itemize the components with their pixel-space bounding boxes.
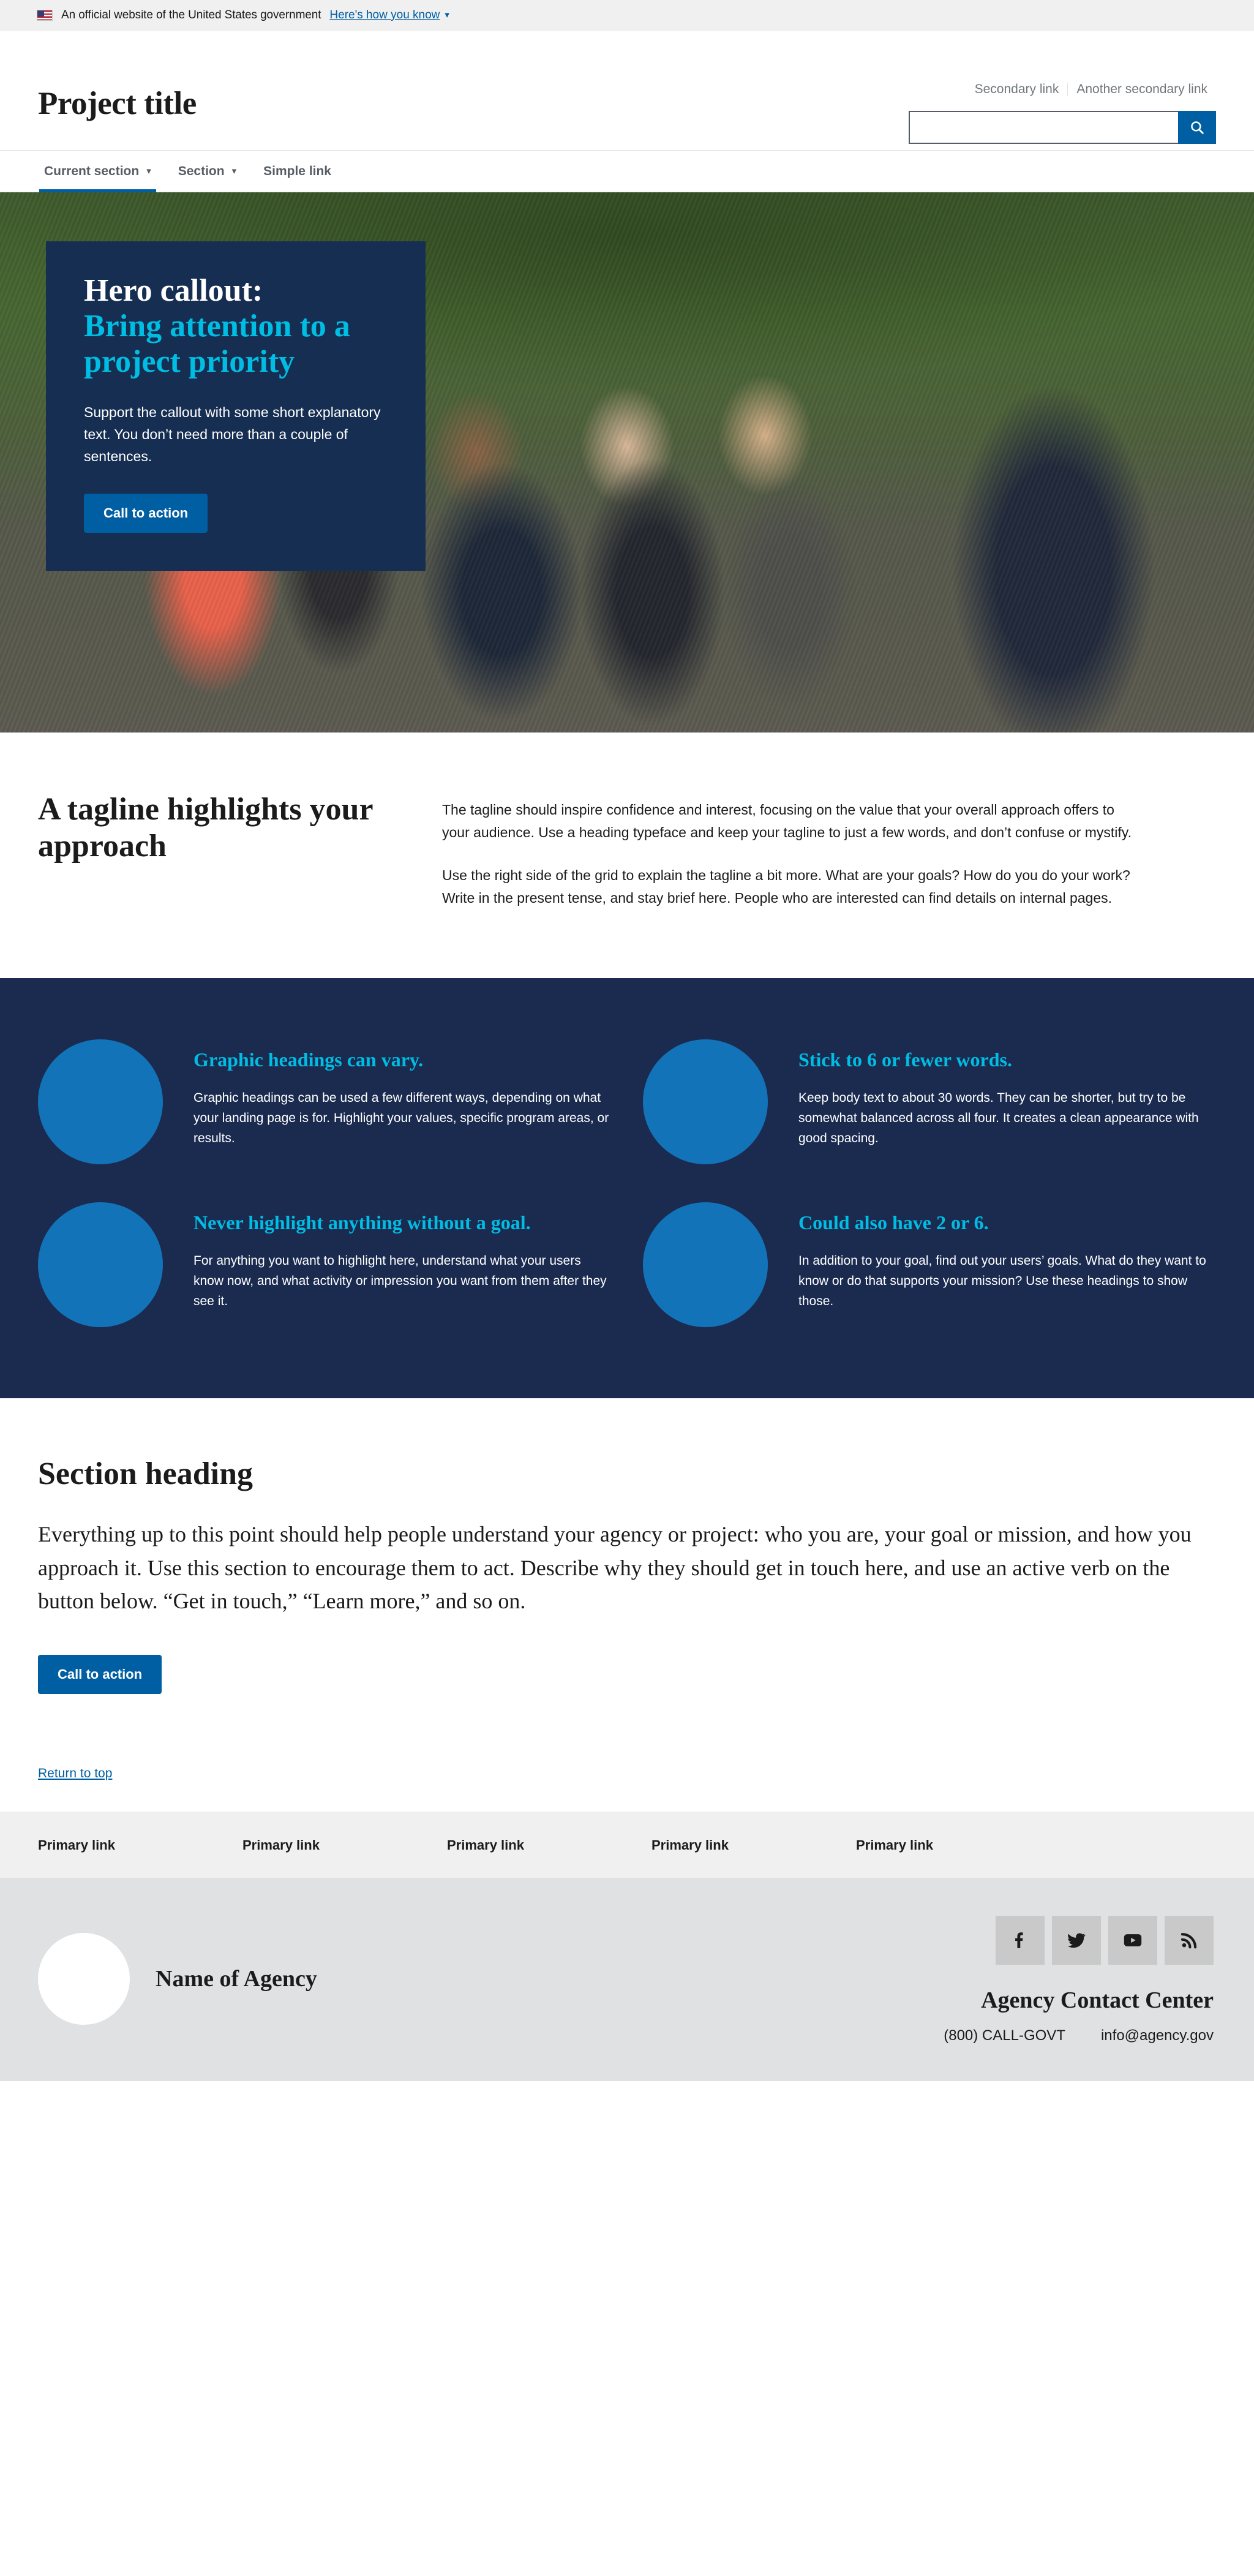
graphic-item-heading: Never highlight anything without a goal. <box>193 1211 611 1235</box>
graphic-item-heading: Could also have 2 or 6. <box>798 1211 1216 1235</box>
nav-item-simple-link[interactable]: Simple link <box>250 151 345 192</box>
youtube-link[interactable] <box>1108 1916 1157 1965</box>
graphic-item-heading: Graphic headings can vary. <box>193 1048 611 1072</box>
tagline-paragraph-2: Use the right side of the grid to explai… <box>442 864 1134 910</box>
blue-circle-icon <box>38 1202 163 1327</box>
nav-item-label: Current section <box>44 164 139 179</box>
blue-circle-icon <box>643 1202 768 1327</box>
nav-item-label: Simple link <box>263 164 331 179</box>
section-body-text: Everything up to this point should help … <box>38 1518 1216 1618</box>
graphic-item-body: Graphic headings can be used a few diffe… <box>193 1088 611 1149</box>
rss-link[interactable] <box>1165 1916 1214 1965</box>
banner-how-you-know-link[interactable]: Here's how you know <box>329 9 440 22</box>
hero-callout: Hero callout: Bring attention to a proje… <box>46 241 426 571</box>
graphic-list-item: Never highlight anything without a goal.… <box>38 1202 611 1327</box>
contact-email[interactable]: info@agency.gov <box>1101 2027 1214 2044</box>
agency-identifier: Name of Agency <box>38 1916 317 2025</box>
hero-call-to-action-button[interactable]: Call to action <box>84 494 208 533</box>
graphic-item-body: In addition to your goal, find out your … <box>798 1251 1216 1312</box>
primary-navigation: Current section ▾ Section ▾ Simple link <box>0 151 1254 192</box>
twitter-icon <box>1066 1930 1087 1951</box>
search-form <box>909 111 1216 144</box>
blue-circle-icon <box>38 1039 163 1164</box>
footer-primary-link-1[interactable]: Primary link <box>38 1837 242 1853</box>
graphic-list-grid: Graphic headings can vary. Graphic headi… <box>38 1039 1216 1327</box>
site-title[interactable]: Project title <box>38 85 197 122</box>
graphic-list-item: Stick to 6 or fewer words. Keep body tex… <box>643 1039 1216 1164</box>
section-heading: Section heading <box>38 1456 1216 1492</box>
chevron-down-icon[interactable]: ▾ <box>445 9 449 20</box>
blue-circle-icon <box>643 1039 768 1164</box>
tagline-body: The tagline should inspire confidence an… <box>442 791 1134 910</box>
hero-section: Hero callout: Bring attention to a proje… <box>0 192 1254 733</box>
search-button[interactable] <box>1178 111 1216 144</box>
government-banner: An official website of the United States… <box>0 0 1254 31</box>
secondary-link-2[interactable]: Another secondary link <box>1068 82 1216 97</box>
footer-primary-link-2[interactable]: Primary link <box>242 1837 447 1853</box>
us-flag-icon <box>37 10 53 21</box>
secondary-links: Secondary link Another secondary link <box>966 82 1216 97</box>
hero-eyebrow: Hero callout: <box>84 273 388 309</box>
footer-primary-link-4[interactable]: Primary link <box>651 1837 856 1853</box>
agency-logo-icon <box>38 1933 130 2025</box>
graphic-list-section: Graphic headings can vary. Graphic headi… <box>0 978 1254 1398</box>
nav-item-label: Section <box>178 164 225 179</box>
nav-item-current-section[interactable]: Current section ▾ <box>31 151 165 192</box>
search-input[interactable] <box>909 111 1178 144</box>
banner-text: An official website of the United States… <box>61 9 321 22</box>
search-icon <box>1189 119 1205 135</box>
graphic-list-item: Graphic headings can vary. Graphic headi… <box>38 1039 611 1164</box>
cta-section: Section heading Everything up to this po… <box>0 1398 1254 1812</box>
tagline-section: A tagline highlights your approach The t… <box>0 733 1254 978</box>
footer-primary-link-5[interactable]: Primary link <box>856 1837 1061 1853</box>
footer-primary-link-3[interactable]: Primary link <box>447 1837 651 1853</box>
footer-primary-links: Primary link Primary link Primary link P… <box>0 1812 1254 1878</box>
footer-contact-block: Agency Contact Center (800) CALL-GOVT in… <box>944 1916 1216 2044</box>
contact-details: (800) CALL-GOVT info@agency.gov <box>944 2027 1214 2044</box>
contact-phone[interactable]: (800) CALL-GOVT <box>944 2027 1065 2044</box>
hero-heading: Bring attention to a project priority <box>84 309 388 380</box>
social-links <box>944 1916 1214 1965</box>
hero-body-text: Support the callout with some short expl… <box>84 401 388 468</box>
contact-center-title: Agency Contact Center <box>944 1987 1214 2014</box>
site-footer: Primary link Primary link Primary link P… <box>0 1812 1254 2081</box>
rss-icon <box>1179 1930 1200 1951</box>
agency-name: Name of Agency <box>156 1965 317 1992</box>
return-to-top-link[interactable]: Return to top <box>38 1766 112 1780</box>
site-header: Project title Secondary link Another sec… <box>0 31 1254 151</box>
chevron-down-icon: ▾ <box>146 165 151 176</box>
footer-secondary: Name of Agency <box>0 1878 1254 2081</box>
twitter-link[interactable] <box>1052 1916 1101 1965</box>
chevron-down-icon: ▾ <box>232 165 237 176</box>
facebook-link[interactable] <box>996 1916 1045 1965</box>
facebook-icon <box>1010 1930 1031 1951</box>
nav-item-section[interactable]: Section ▾ <box>165 151 250 192</box>
youtube-icon <box>1122 1930 1143 1951</box>
graphic-list-item: Could also have 2 or 6. In addition to y… <box>643 1202 1216 1327</box>
section-call-to-action-button[interactable]: Call to action <box>38 1655 162 1694</box>
tagline-heading: A tagline highlights your approach <box>38 791 405 910</box>
secondary-link-1[interactable]: Secondary link <box>966 82 1068 97</box>
graphic-item-body: For anything you want to highlight here,… <box>193 1251 611 1312</box>
graphic-item-body: Keep body text to about 30 words. They c… <box>798 1088 1216 1149</box>
graphic-item-heading: Stick to 6 or fewer words. <box>798 1048 1216 1072</box>
tagline-paragraph-1: The tagline should inspire confidence an… <box>442 799 1134 845</box>
